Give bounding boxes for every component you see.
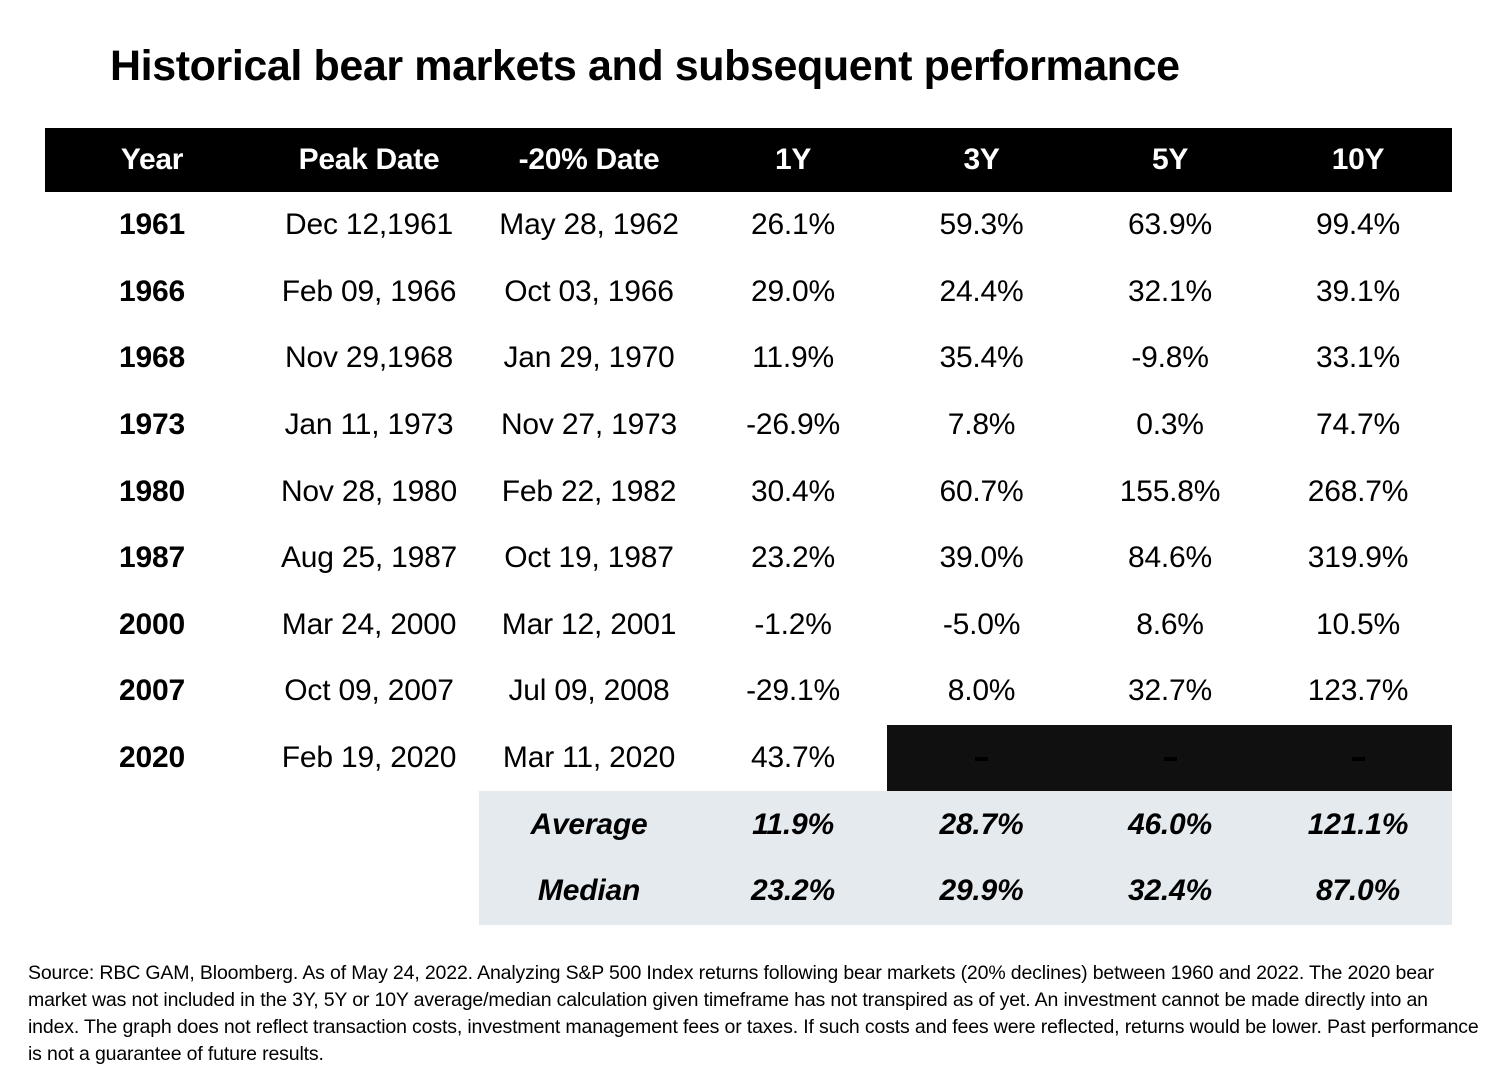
page-title: Historical bear markets and subsequent p… bbox=[110, 40, 1450, 92]
cell-10y: 268.7% bbox=[1264, 458, 1452, 525]
cell-minus20-date: Mar 12, 2001 bbox=[479, 592, 699, 659]
bear-markets-table: Year Peak Date -20% Date 1Y 3Y 5Y 10Y 19… bbox=[45, 128, 1452, 925]
table-row: 2000 Mar 24, 2000 Mar 12, 2001 -1.2% -5.… bbox=[45, 592, 1452, 659]
cell-3y-unavailable bbox=[887, 725, 1076, 792]
cell-peak-date: Dec 12,1961 bbox=[259, 192, 479, 259]
cell-3y: 39.0% bbox=[887, 525, 1076, 592]
cell-peak-date: Jan 11, 1973 bbox=[259, 392, 479, 459]
column-header-peak-date: Peak Date bbox=[259, 128, 479, 192]
table-row: 1966 Feb 09, 1966 Oct 03, 1966 29.0% 24.… bbox=[45, 259, 1452, 326]
summary-median-1y: 23.2% bbox=[699, 858, 887, 925]
cell-5y: 155.8% bbox=[1076, 458, 1264, 525]
cell-1y: -1.2% bbox=[699, 592, 887, 659]
cell-5y: -9.8% bbox=[1076, 325, 1264, 392]
table-header: Year Peak Date -20% Date 1Y 3Y 5Y 10Y bbox=[45, 128, 1452, 192]
dash-icon bbox=[975, 757, 988, 761]
summary-label-average: Average bbox=[479, 791, 699, 858]
summary-spacer bbox=[45, 858, 259, 925]
cell-3y: -5.0% bbox=[887, 592, 1076, 659]
cell-year: 1966 bbox=[45, 259, 259, 326]
summary-median-5y: 32.4% bbox=[1076, 858, 1264, 925]
dash-icon bbox=[1352, 757, 1365, 761]
cell-year: 1980 bbox=[45, 458, 259, 525]
summary-median-3y: 29.9% bbox=[887, 858, 1076, 925]
summary-median-10y: 87.0% bbox=[1264, 858, 1452, 925]
cell-10y: 39.1% bbox=[1264, 259, 1452, 326]
cell-year: 2007 bbox=[45, 658, 259, 725]
cell-10y: 319.9% bbox=[1264, 525, 1452, 592]
cell-10y: 74.7% bbox=[1264, 392, 1452, 459]
cell-minus20-date: May 28, 1962 bbox=[479, 192, 699, 259]
summary-average-5y: 46.0% bbox=[1076, 791, 1264, 858]
summary-spacer bbox=[259, 791, 479, 858]
cell-1y: 11.9% bbox=[699, 325, 887, 392]
cell-5y: 8.6% bbox=[1076, 592, 1264, 659]
cell-3y: 60.7% bbox=[887, 458, 1076, 525]
cell-1y: -29.1% bbox=[699, 658, 887, 725]
column-header-minus20-date: -20% Date bbox=[479, 128, 699, 192]
cell-5y: 0.3% bbox=[1076, 392, 1264, 459]
table-row: 2007 Oct 09, 2007 Jul 09, 2008 -29.1% 8.… bbox=[45, 658, 1452, 725]
cell-10y: 123.7% bbox=[1264, 658, 1452, 725]
table-row: 1987 Aug 25, 1987 Oct 19, 1987 23.2% 39.… bbox=[45, 525, 1452, 592]
cell-1y: 43.7% bbox=[699, 725, 887, 792]
cell-3y: 59.3% bbox=[887, 192, 1076, 259]
cell-peak-date: Feb 19, 2020 bbox=[259, 725, 479, 792]
cell-1y: -26.9% bbox=[699, 392, 887, 459]
summary-row-median: Median 23.2% 29.9% 32.4% 87.0% bbox=[45, 858, 1452, 925]
table-row: 2020 Feb 19, 2020 Mar 11, 2020 43.7% bbox=[45, 725, 1452, 792]
cell-minus20-date: Jul 09, 2008 bbox=[479, 658, 699, 725]
cell-year: 2020 bbox=[45, 725, 259, 792]
cell-peak-date: Feb 09, 1966 bbox=[259, 259, 479, 326]
cell-5y: 32.7% bbox=[1076, 658, 1264, 725]
cell-10y: 10.5% bbox=[1264, 592, 1452, 659]
cell-10y: 99.4% bbox=[1264, 192, 1452, 259]
summary-spacer bbox=[45, 791, 259, 858]
table-header-row: Year Peak Date -20% Date 1Y 3Y 5Y 10Y bbox=[45, 128, 1452, 192]
column-header-year: Year bbox=[45, 128, 259, 192]
cell-peak-date: Nov 29,1968 bbox=[259, 325, 479, 392]
cell-1y: 26.1% bbox=[699, 192, 887, 259]
cell-year: 2000 bbox=[45, 592, 259, 659]
cell-10y-unavailable bbox=[1264, 725, 1452, 792]
cell-minus20-date: Nov 27, 1973 bbox=[479, 392, 699, 459]
table-row: 1961 Dec 12,1961 May 28, 1962 26.1% 59.3… bbox=[45, 192, 1452, 259]
cell-peak-date: Aug 25, 1987 bbox=[259, 525, 479, 592]
column-header-5y: 5Y bbox=[1076, 128, 1264, 192]
cell-minus20-date: Oct 19, 1987 bbox=[479, 525, 699, 592]
cell-minus20-date: Jan 29, 1970 bbox=[479, 325, 699, 392]
summary-average-1y: 11.9% bbox=[699, 791, 887, 858]
column-header-3y: 3Y bbox=[887, 128, 1076, 192]
cell-5y-unavailable bbox=[1076, 725, 1264, 792]
cell-10y: 33.1% bbox=[1264, 325, 1452, 392]
cell-3y: 35.4% bbox=[887, 325, 1076, 392]
summary-average-10y: 121.1% bbox=[1264, 791, 1452, 858]
cell-year: 1968 bbox=[45, 325, 259, 392]
cell-year: 1961 bbox=[45, 192, 259, 259]
cell-5y: 63.9% bbox=[1076, 192, 1264, 259]
table-body: 1961 Dec 12,1961 May 28, 1962 26.1% 59.3… bbox=[45, 192, 1452, 925]
cell-year: 1973 bbox=[45, 392, 259, 459]
cell-1y: 23.2% bbox=[699, 525, 887, 592]
cell-3y: 24.4% bbox=[887, 259, 1076, 326]
column-header-10y: 10Y bbox=[1264, 128, 1452, 192]
table-row: 1973 Jan 11, 1973 Nov 27, 1973 -26.9% 7.… bbox=[45, 392, 1452, 459]
summary-row-average: Average 11.9% 28.7% 46.0% 121.1% bbox=[45, 791, 1452, 858]
cell-minus20-date: Mar 11, 2020 bbox=[479, 725, 699, 792]
column-header-1y: 1Y bbox=[699, 128, 887, 192]
table-row: 1968 Nov 29,1968 Jan 29, 1970 11.9% 35.4… bbox=[45, 325, 1452, 392]
cell-peak-date: Nov 28, 1980 bbox=[259, 458, 479, 525]
cell-1y: 30.4% bbox=[699, 458, 887, 525]
cell-minus20-date: Feb 22, 1982 bbox=[479, 458, 699, 525]
cell-3y: 8.0% bbox=[887, 658, 1076, 725]
cell-minus20-date: Oct 03, 1966 bbox=[479, 259, 699, 326]
table-row: 1980 Nov 28, 1980 Feb 22, 1982 30.4% 60.… bbox=[45, 458, 1452, 525]
dash-icon bbox=[1164, 757, 1177, 761]
summary-spacer bbox=[259, 858, 479, 925]
source-footnote: Source: RBC GAM, Bloomberg. As of May 24… bbox=[28, 960, 1483, 1068]
cell-peak-date: Mar 24, 2000 bbox=[259, 592, 479, 659]
cell-1y: 29.0% bbox=[699, 259, 887, 326]
summary-label-median: Median bbox=[479, 858, 699, 925]
cell-peak-date: Oct 09, 2007 bbox=[259, 658, 479, 725]
cell-3y: 7.8% bbox=[887, 392, 1076, 459]
cell-5y: 32.1% bbox=[1076, 259, 1264, 326]
cell-year: 1987 bbox=[45, 525, 259, 592]
summary-average-3y: 28.7% bbox=[887, 791, 1076, 858]
cell-5y: 84.6% bbox=[1076, 525, 1264, 592]
